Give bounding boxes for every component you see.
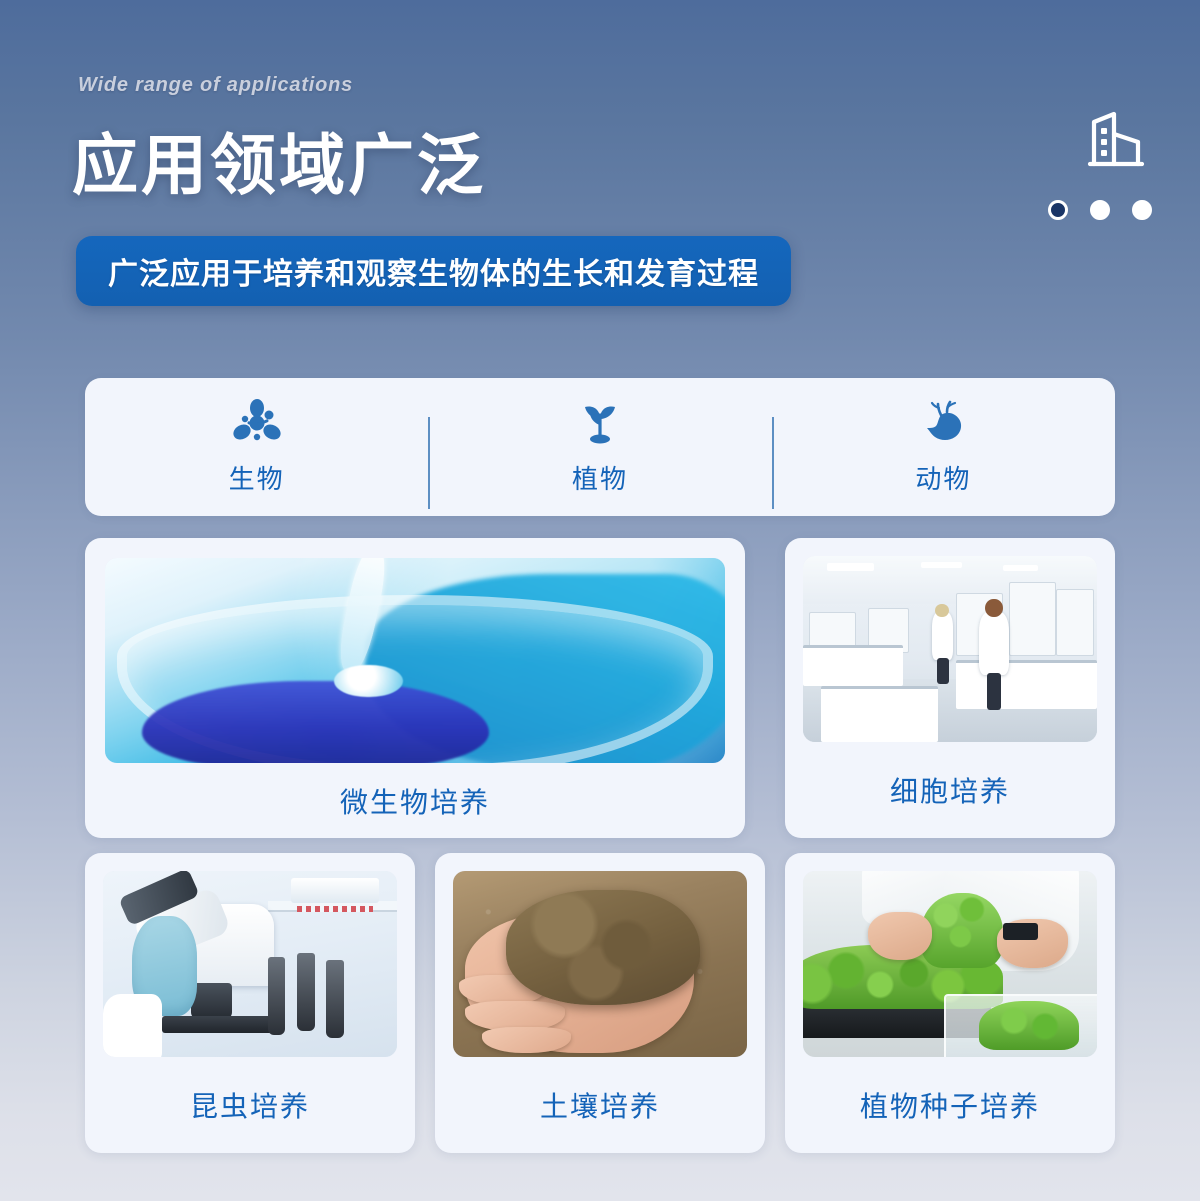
- laboratory-room-photo: [803, 556, 1097, 742]
- page-header: Wide range of applications 应用领域广泛 广泛应用于培…: [0, 0, 1200, 360]
- subtitle-banner: 广泛应用于培养和观察生物体的生长和发育过程: [76, 236, 791, 306]
- category-label: 生物: [229, 459, 285, 496]
- pager-dot-2[interactable]: [1090, 200, 1110, 220]
- application-card-cell[interactable]: 细胞培养: [785, 538, 1115, 838]
- page-title: 应用领域广泛: [72, 112, 486, 208]
- carousel-pager[interactable]: [1048, 200, 1152, 220]
- category-item-plant[interactable]: 植物: [428, 399, 771, 496]
- subtitle-text: 广泛应用于培养和观察生物体的生长和发育过程: [108, 249, 759, 293]
- category-label: 植物: [572, 459, 628, 496]
- card-label: 细胞培养: [890, 742, 1010, 838]
- deer-head-icon: [917, 399, 969, 445]
- seedling-tray-photo: [803, 871, 1097, 1057]
- petri-dish-pipette-photo: [105, 558, 725, 763]
- card-label: 昆虫培养: [190, 1057, 310, 1153]
- card-label: 植物种子培养: [860, 1057, 1040, 1153]
- pager-dot-3[interactable]: [1132, 200, 1152, 220]
- application-card-soil[interactable]: 土壤培养: [435, 853, 765, 1153]
- eyebrow-text: Wide range of applications: [78, 74, 353, 97]
- sprout-icon: [574, 399, 626, 445]
- pager-dot-1[interactable]: [1048, 200, 1068, 220]
- category-strip: 生物 植物: [85, 378, 1115, 516]
- application-card-seed[interactable]: 植物种子培养: [785, 853, 1115, 1153]
- building-icon: [1084, 108, 1148, 172]
- microscope-scientist-photo: [103, 871, 397, 1057]
- microbe-molecule-icon: [231, 399, 283, 445]
- category-label: 动物: [915, 459, 971, 496]
- category-item-animal[interactable]: 动物: [772, 399, 1115, 496]
- category-item-biology[interactable]: 生物: [85, 399, 428, 496]
- application-card-microbe[interactable]: 微生物培养: [85, 538, 745, 838]
- card-label: 微生物培养: [340, 763, 490, 838]
- hand-holding-soil-photo: [453, 871, 747, 1057]
- card-label: 土壤培养: [540, 1057, 660, 1153]
- application-card-insect[interactable]: 昆虫培养: [85, 853, 415, 1153]
